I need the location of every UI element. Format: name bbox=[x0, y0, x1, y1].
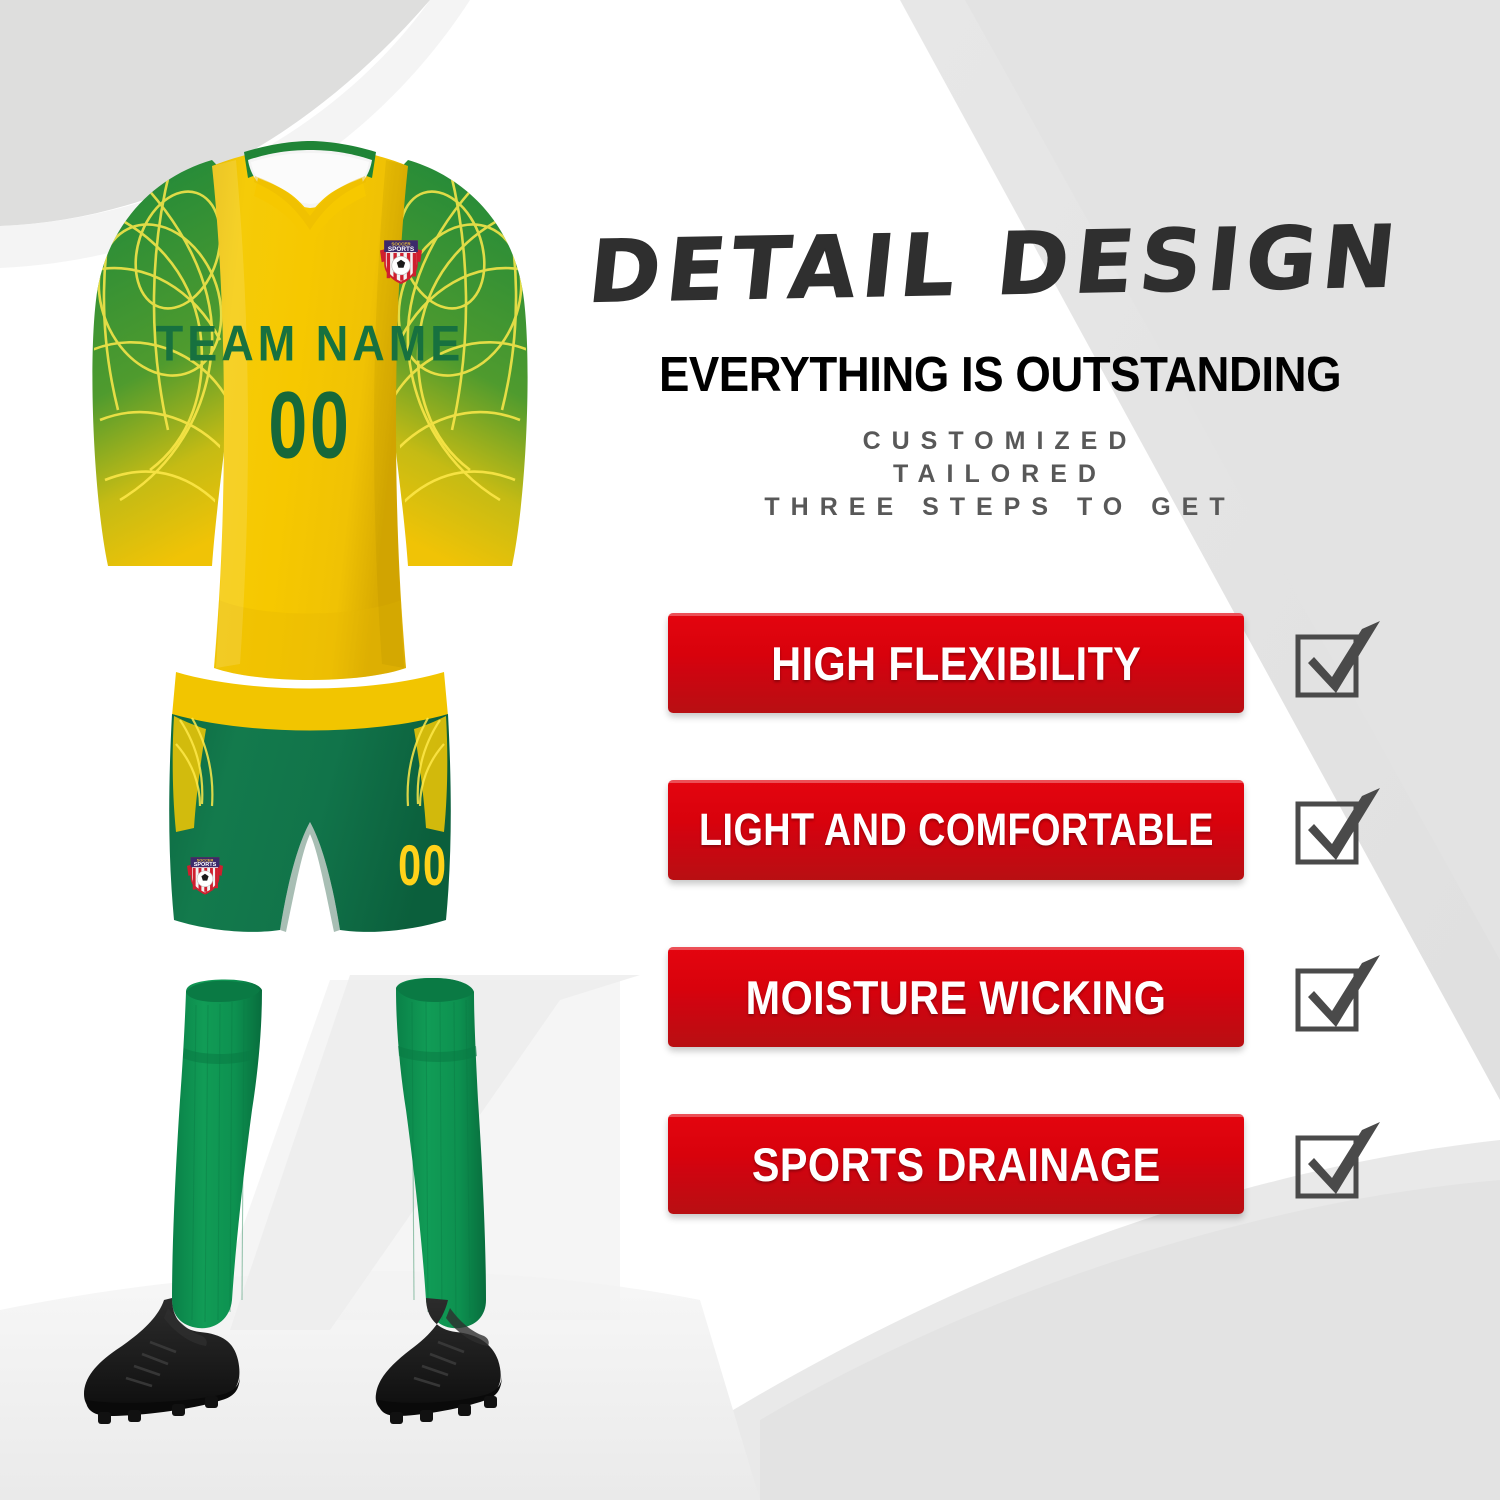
shorts-number: 00 bbox=[398, 833, 448, 897]
feature-label: SPORTS DRAINAGE bbox=[752, 1137, 1161, 1192]
feature-list: HIGH FLEXIBILITY LIGHT AND COMFORTABLE bbox=[560, 0, 1500, 1500]
check-svg bbox=[1288, 1116, 1384, 1212]
feature-row: MOISTURE WICKING bbox=[668, 947, 1468, 1047]
feature-banner-high-flexibility[interactable]: HIGH FLEXIBILITY bbox=[668, 613, 1244, 713]
checkbox-checked-icon[interactable] bbox=[1288, 949, 1384, 1045]
feature-row: SPORTS DRAINAGE bbox=[668, 1114, 1468, 1214]
check-svg bbox=[1288, 615, 1384, 711]
left-sock bbox=[172, 979, 262, 1328]
product-illustration: TEAM NAME 00 bbox=[0, 0, 620, 1500]
checkbox-checked-icon[interactable] bbox=[1288, 782, 1384, 878]
svg-text:SPORTS: SPORTS bbox=[194, 862, 217, 868]
soccer-kit-svg: TEAM NAME 00 bbox=[0, 0, 620, 1500]
feature-banner-light-and-comfortable[interactable]: LIGHT AND COMFORTABLE bbox=[668, 780, 1244, 880]
socks bbox=[172, 978, 486, 1328]
shoes bbox=[84, 1298, 502, 1424]
jersey: TEAM NAME 00 bbox=[77, 141, 543, 680]
svg-text:SPORTS: SPORTS bbox=[388, 246, 414, 253]
check-svg bbox=[1288, 782, 1384, 878]
check-svg bbox=[1288, 949, 1384, 1045]
product-marketing-banner: TEAM NAME 00 bbox=[0, 0, 1500, 1500]
feature-banner-moisture-wicking[interactable]: MOISTURE WICKING bbox=[668, 947, 1244, 1047]
feature-row: LIGHT AND COMFORTABLE bbox=[668, 780, 1468, 880]
feature-label: HIGH FLEXIBILITY bbox=[771, 636, 1141, 691]
feature-label: MOISTURE WICKING bbox=[746, 970, 1167, 1025]
shorts: SOCCER SPORTS 00 bbox=[169, 672, 451, 932]
feature-label: LIGHT AND COMFORTABLE bbox=[699, 804, 1214, 856]
checkbox-checked-icon[interactable] bbox=[1288, 1116, 1384, 1212]
jersey-team-name: TEAM NAME bbox=[156, 316, 464, 372]
jersey-number: 00 bbox=[268, 372, 351, 478]
checkbox-checked-icon[interactable] bbox=[1288, 615, 1384, 711]
feature-banner-sports-drainage[interactable]: SPORTS DRAINAGE bbox=[668, 1114, 1244, 1214]
feature-row: HIGH FLEXIBILITY bbox=[668, 613, 1468, 713]
marketing-copy-panel: DETAIL DESIGN EVERYTHING IS OUTSTANDING … bbox=[560, 0, 1500, 1500]
